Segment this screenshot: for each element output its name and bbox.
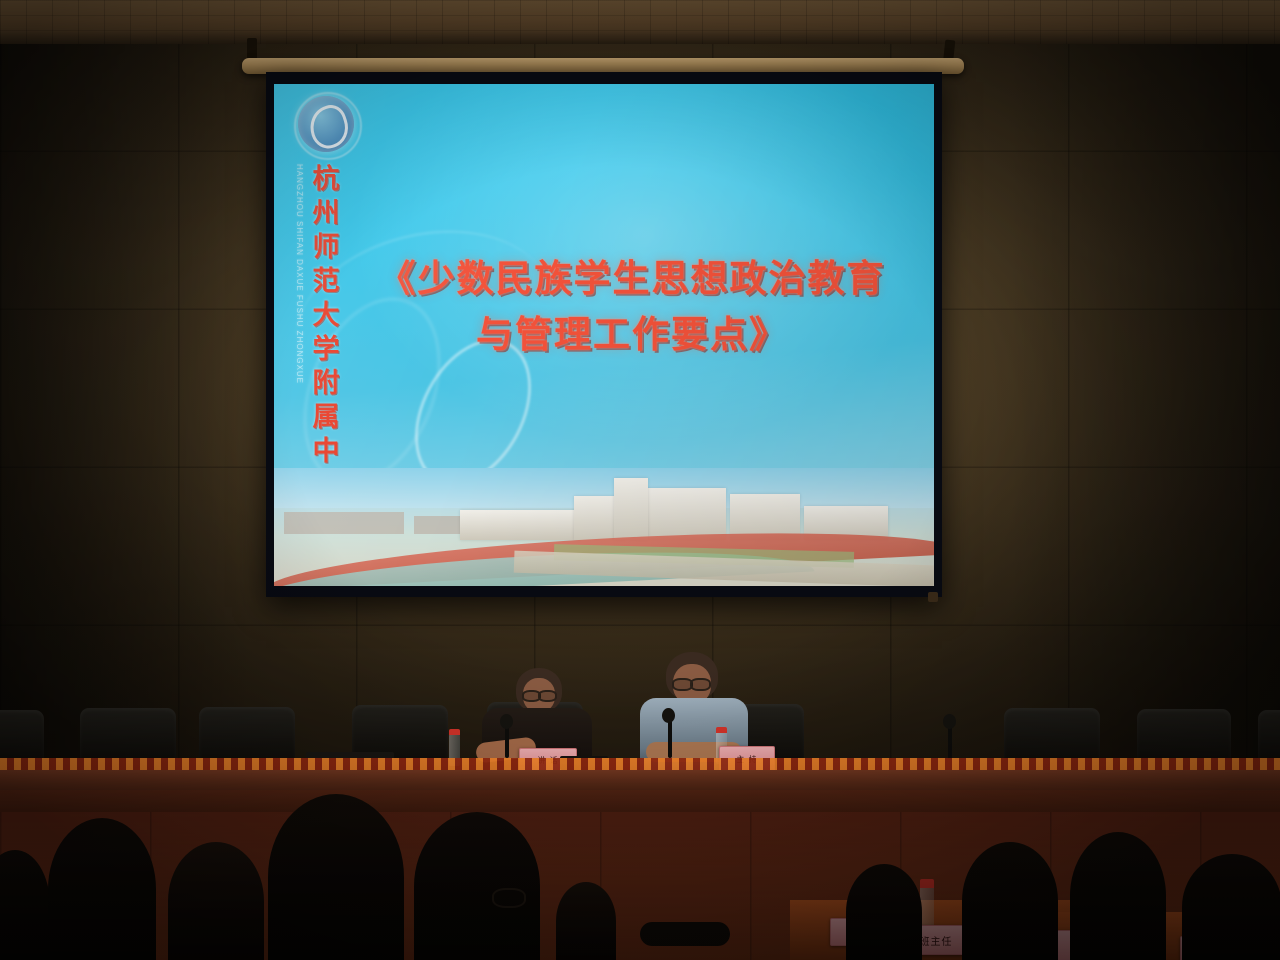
speaker-right-glasses-lens-right <box>690 678 711 691</box>
campus-tower <box>614 478 648 540</box>
audience-head-8 <box>962 842 1058 960</box>
screen-bottom-weight <box>928 592 938 602</box>
school-name-char-0: 杭 <box>313 162 340 196</box>
campus-photo-band <box>274 468 934 586</box>
school-name-char-8: 中 <box>313 434 340 468</box>
eyeglasses-on-table <box>640 922 730 946</box>
school-name-char-7: 属 <box>313 400 340 434</box>
school-name-char-1: 州 <box>313 196 340 230</box>
slide-title: 《少数民族学生思想政治教育 与管理工作要点》 <box>346 252 918 364</box>
audience-head-3 <box>168 842 264 960</box>
audience-head-4 <box>268 794 404 960</box>
school-name-char-4: 大 <box>313 298 340 332</box>
water-bottle-left-cap <box>449 729 460 735</box>
microphone-left-head <box>500 714 513 729</box>
water-bottle-right-cap <box>716 727 727 733</box>
school-name-vertical: 杭 州 师 范 大 学 附 属 中 学 <box>302 162 350 502</box>
conference-hall-scene: HANGZHOU SHIFAN DAXUE FUSHU ZHONGXUE 杭 州… <box>0 0 1280 960</box>
school-name-char-6: 附 <box>313 366 340 400</box>
slide-title-line-2: 与管理工作要点》 <box>346 308 918 364</box>
audience-head-6 <box>556 882 616 960</box>
audience-head-9 <box>1070 832 1166 960</box>
audience-head-5-glasses <box>492 888 526 908</box>
audience-head-5 <box>414 812 540 960</box>
audience-bottle-2-cap <box>920 879 934 888</box>
school-name-char-2: 师 <box>313 230 340 264</box>
projector-screen: HANGZHOU SHIFAN DAXUE FUSHU ZHONGXUE 杭 州… <box>274 84 934 586</box>
audience-head-7 <box>846 864 922 960</box>
campus-building-1 <box>460 510 580 540</box>
slide-title-line-1: 《少数民族学生思想政治教育 <box>346 252 918 308</box>
microphone-right-head <box>662 708 675 723</box>
school-name-char-5: 学 <box>313 332 340 366</box>
campus-far-building-1 <box>284 512 404 534</box>
microphone-far-right-head <box>943 714 956 729</box>
school-name-char-3: 范 <box>313 264 340 298</box>
audience-head-2 <box>48 818 156 960</box>
audience-head-10 <box>1182 854 1280 960</box>
university-emblem-icon <box>298 96 354 152</box>
speaker-left-glasses-lens-right <box>538 690 557 702</box>
